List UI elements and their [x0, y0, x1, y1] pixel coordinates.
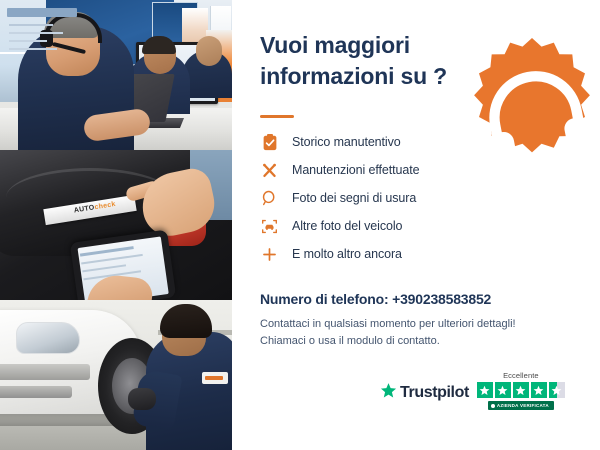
- feature-label: Manutenzioni effettuate: [292, 163, 419, 177]
- phone-number[interactable]: +390238583852: [392, 291, 491, 307]
- trustpilot-star-icon: [380, 382, 397, 404]
- uniform-logo-shape: [202, 372, 228, 384]
- feature-label: Altre foto del veicolo: [292, 219, 402, 233]
- mechanic-glove-shape: [128, 388, 156, 410]
- star-half-5: [549, 382, 565, 398]
- feature-item-molto-altro: E molto altro ancora: [260, 240, 510, 268]
- promo-banner: AUTOcheck: [0, 0, 600, 450]
- star-rating: [477, 382, 565, 398]
- contact-line-2: Chiamaci o usa il modulo di contatto.: [260, 333, 560, 350]
- contact-line-1: Contattaci in qualsiasi momento per ulte…: [260, 316, 560, 333]
- star-filled-2: [495, 382, 511, 398]
- feature-list: Storico manutentivo Manutenzioni effettu…: [260, 128, 510, 268]
- star-filled-1: [477, 382, 493, 398]
- car-lift-shape: [0, 412, 118, 426]
- call-center-agents-photo: [0, 0, 232, 150]
- crossed-wrenches-icon: [260, 161, 279, 180]
- trustpilot-brand-text: Trustpilot: [400, 384, 469, 402]
- photo-column: AUTOcheck: [0, 0, 232, 450]
- grille-lower-shape: [0, 386, 72, 398]
- car-frame-icon: [260, 217, 279, 236]
- feature-label: E molto altro ancora: [292, 247, 402, 261]
- title-underline-divider: [260, 115, 294, 118]
- monitor-rows-shape: [9, 24, 75, 54]
- trustpilot-logo: Trustpilot: [380, 382, 469, 410]
- page-title: Vuoi maggiori informazioni su ?: [260, 30, 447, 91]
- verified-label: AZIENDA VERIFICATA: [497, 403, 549, 408]
- feature-item-storico-manutentivo: Storico manutentivo: [260, 128, 510, 156]
- feature-label: Storico manutentivo: [292, 135, 401, 149]
- status-badge: AZIENDA VERIFICATA: [488, 401, 554, 410]
- wheel-inspection-photo: [0, 300, 232, 450]
- plus-icon: [260, 245, 279, 264]
- magnifier-icon: [260, 189, 279, 208]
- rating-label: Eccellente: [503, 371, 539, 380]
- contact-instructions: Contattaci in qualsiasi momento per ulte…: [260, 316, 560, 351]
- monitor-toolbar-shape: [7, 8, 77, 17]
- phone-label: Numero di telefono:: [260, 291, 392, 307]
- feature-label: Foto dei segni di usura: [292, 191, 416, 205]
- star-filled-3: [513, 382, 529, 398]
- grille-upper-shape: [0, 364, 90, 380]
- trustpilot-rating: Eccellente: [477, 371, 565, 410]
- verified-check-icon: [491, 404, 495, 408]
- phone-line: Numero di telefono: +390238583852: [260, 291, 491, 307]
- star-filled-4: [531, 382, 547, 398]
- gauge-logo-text: AUTOcheck: [73, 201, 116, 215]
- feature-item-manutenzioni-effettuate: Manutenzioni effettuate: [260, 156, 510, 184]
- content-panel: Vuoi maggiori informazioni su ? Saremo f…: [232, 0, 600, 450]
- feature-item-altre-foto-veicolo: Altre foto del veicolo: [260, 212, 510, 240]
- agent-background-2-head-shape: [196, 36, 222, 66]
- bumper-inspection-photo: AUTOcheck: [0, 150, 232, 300]
- trustpilot-widget[interactable]: Trustpilot Eccellente: [380, 371, 565, 410]
- page-title-line-1: Vuoi maggiori: [260, 32, 410, 58]
- clipboard-check-icon: [260, 133, 279, 152]
- page-title-line-2: informazioni su ?: [260, 63, 447, 89]
- headlight-shape: [16, 322, 80, 354]
- feature-item-foto-segni-usura: Foto dei segni di usura: [260, 184, 510, 212]
